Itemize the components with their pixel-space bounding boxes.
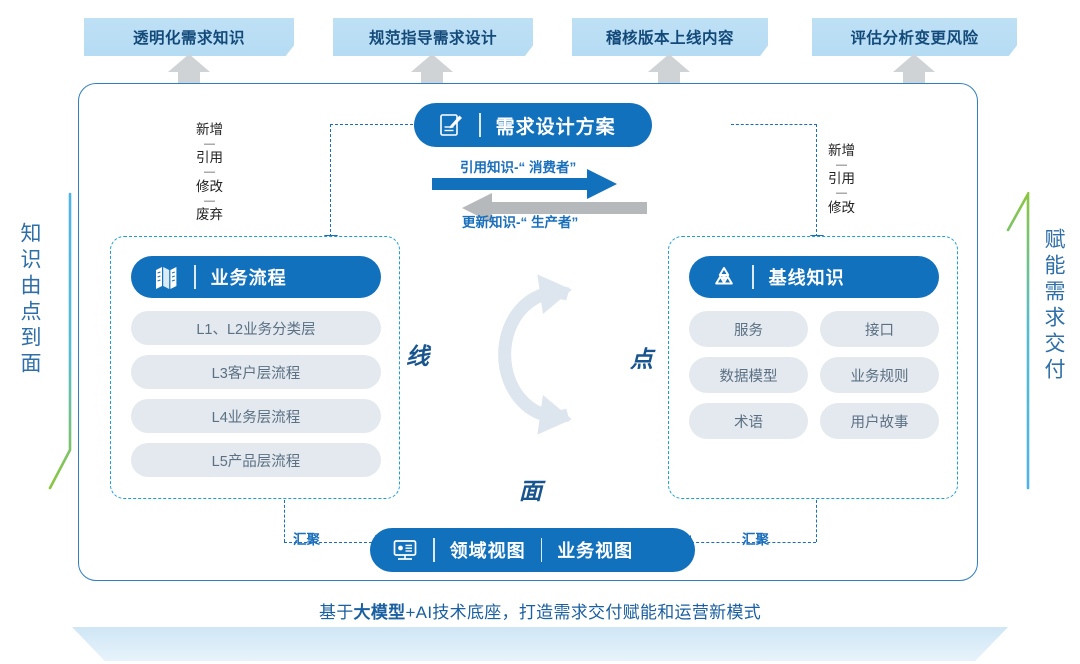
document-edit-icon: [438, 112, 464, 138]
view-board-icon: [392, 537, 418, 563]
dashed-path-left-vertical: [330, 124, 331, 237]
top-banner-3[interactable]: 评估分析变更风险: [812, 18, 1017, 56]
separator: —: [196, 196, 223, 208]
change-label: 废弃: [196, 207, 223, 224]
base-platform-shape: [72, 627, 1008, 661]
diagram-canvas: 透明化需求知识 规范指导需求设计 稽核版本上线内容 评估分析变更风险: [0, 0, 1080, 664]
change-label: 新增: [196, 122, 223, 139]
change-label: 引用: [828, 171, 855, 188]
list-item[interactable]: 接口: [820, 311, 939, 347]
caption-strong: 大模型: [354, 603, 406, 622]
knowledge-flow-arrows: 引用知识-“ 消费者” 更新知识-“ 生产者”: [432, 156, 647, 232]
bracket-left-icon: [44, 192, 84, 492]
view-pill[interactable]: 领域视图 业务视图: [370, 528, 695, 572]
change-label: 引用: [196, 150, 223, 167]
caption-suffix: +AI技术底座，打造需求交付赋能和运营新模式: [405, 603, 761, 622]
list-item[interactable]: L1、L2业务分类层: [131, 311, 381, 345]
business-process-items: L1、L2业务分类层 L3客户层流程 L4业务层流程 L5产品层流程: [131, 311, 381, 487]
list-item[interactable]: 数据模型: [689, 357, 808, 393]
up-arrow-icon: [409, 52, 455, 86]
change-label: 修改: [828, 200, 855, 217]
divider: [479, 113, 481, 137]
list-item[interactable]: L5产品层流程: [131, 443, 381, 477]
top-banner-label: 透明化需求知识: [133, 26, 245, 48]
baseline-knowledge-label: 基线知识: [769, 264, 845, 290]
top-banner-label: 规范指导需求设计: [369, 26, 497, 48]
separator: —: [828, 160, 855, 172]
top-banner-2[interactable]: 稽核版本上线内容: [572, 18, 768, 56]
cycle-arrows-icon: [480, 252, 610, 457]
baseline-knowledge-panel: 基线知识 服务 接口 数据模型 业务规则 术语 用户故事: [668, 236, 958, 499]
baseline-knowledge-header[interactable]: 基线知识: [689, 256, 939, 298]
business-process-header[interactable]: 业务流程: [131, 256, 381, 298]
dashed-path-right-vertical: [816, 124, 817, 237]
produce-knowledge-label: 更新知识-“ 生产者”: [462, 211, 578, 231]
business-process-label: 业务流程: [211, 264, 287, 290]
divider: [541, 538, 543, 562]
folded-map-icon: [153, 264, 179, 290]
side-label-right: 赋能需求交付: [1038, 228, 1068, 384]
change-label: 修改: [196, 179, 223, 196]
business-process-panel: 业务流程 L1、L2业务分类层 L3客户层流程 L4业务层流程 L5产品层流程: [110, 236, 400, 499]
consume-knowledge-label: 引用知识-“ 消费者”: [460, 156, 576, 176]
top-banner-0[interactable]: 透明化需求知识: [84, 18, 294, 56]
divider: [433, 538, 435, 562]
requirement-design-label: 需求设计方案: [496, 112, 616, 139]
up-arrow-icon: [891, 52, 937, 86]
separator: —: [196, 167, 223, 179]
cycle-plane-label: 面: [519, 472, 542, 506]
baseline-knowledge-items: 服务 接口 数据模型 业务规则 术语 用户故事: [689, 311, 939, 439]
separator: —: [828, 188, 855, 200]
bracket-right-icon: [1002, 192, 1042, 492]
list-item[interactable]: 用户故事: [820, 403, 939, 439]
knowledge-nodes-icon: [711, 264, 737, 290]
divider: [194, 265, 196, 289]
side-label-left: 知识由点到面: [14, 222, 44, 378]
change-labels-right: 新增 — 引用 — 修改: [828, 143, 855, 217]
requirement-design-pill[interactable]: 需求设计方案: [414, 103, 652, 147]
up-arrow-icon: [166, 52, 212, 86]
dashed-path-top-right: [731, 124, 817, 125]
aggregate-label-right: 汇聚: [742, 528, 769, 548]
business-view-label: 业务视图: [557, 537, 633, 563]
list-item[interactable]: L3客户层流程: [131, 355, 381, 389]
separator: —: [196, 139, 223, 151]
cycle-line-label: 线: [406, 337, 429, 371]
change-labels-left: 新增 — 引用 — 修改 — 废弃: [196, 122, 223, 224]
top-banner-label: 评估分析变更风险: [850, 26, 978, 48]
list-item[interactable]: 服务: [689, 311, 808, 347]
top-banner-1[interactable]: 规范指导需求设计: [333, 18, 533, 56]
list-item[interactable]: 术语: [689, 403, 808, 439]
list-item[interactable]: L4业务层流程: [131, 399, 381, 433]
footer-caption: 基于大模型+AI技术底座，打造需求交付赋能和运营新模式: [0, 598, 1080, 623]
list-item[interactable]: 业务规则: [820, 357, 939, 393]
domain-view-label: 领域视图: [450, 537, 526, 563]
caption-prefix: 基于: [319, 603, 354, 622]
cycle-point-label: 点: [630, 340, 653, 374]
divider: [752, 265, 754, 289]
up-arrow-icon: [646, 52, 692, 86]
top-banner-label: 稽核版本上线内容: [606, 26, 734, 48]
change-label: 新增: [828, 143, 855, 160]
aggregate-label-left: 汇聚: [293, 528, 320, 548]
